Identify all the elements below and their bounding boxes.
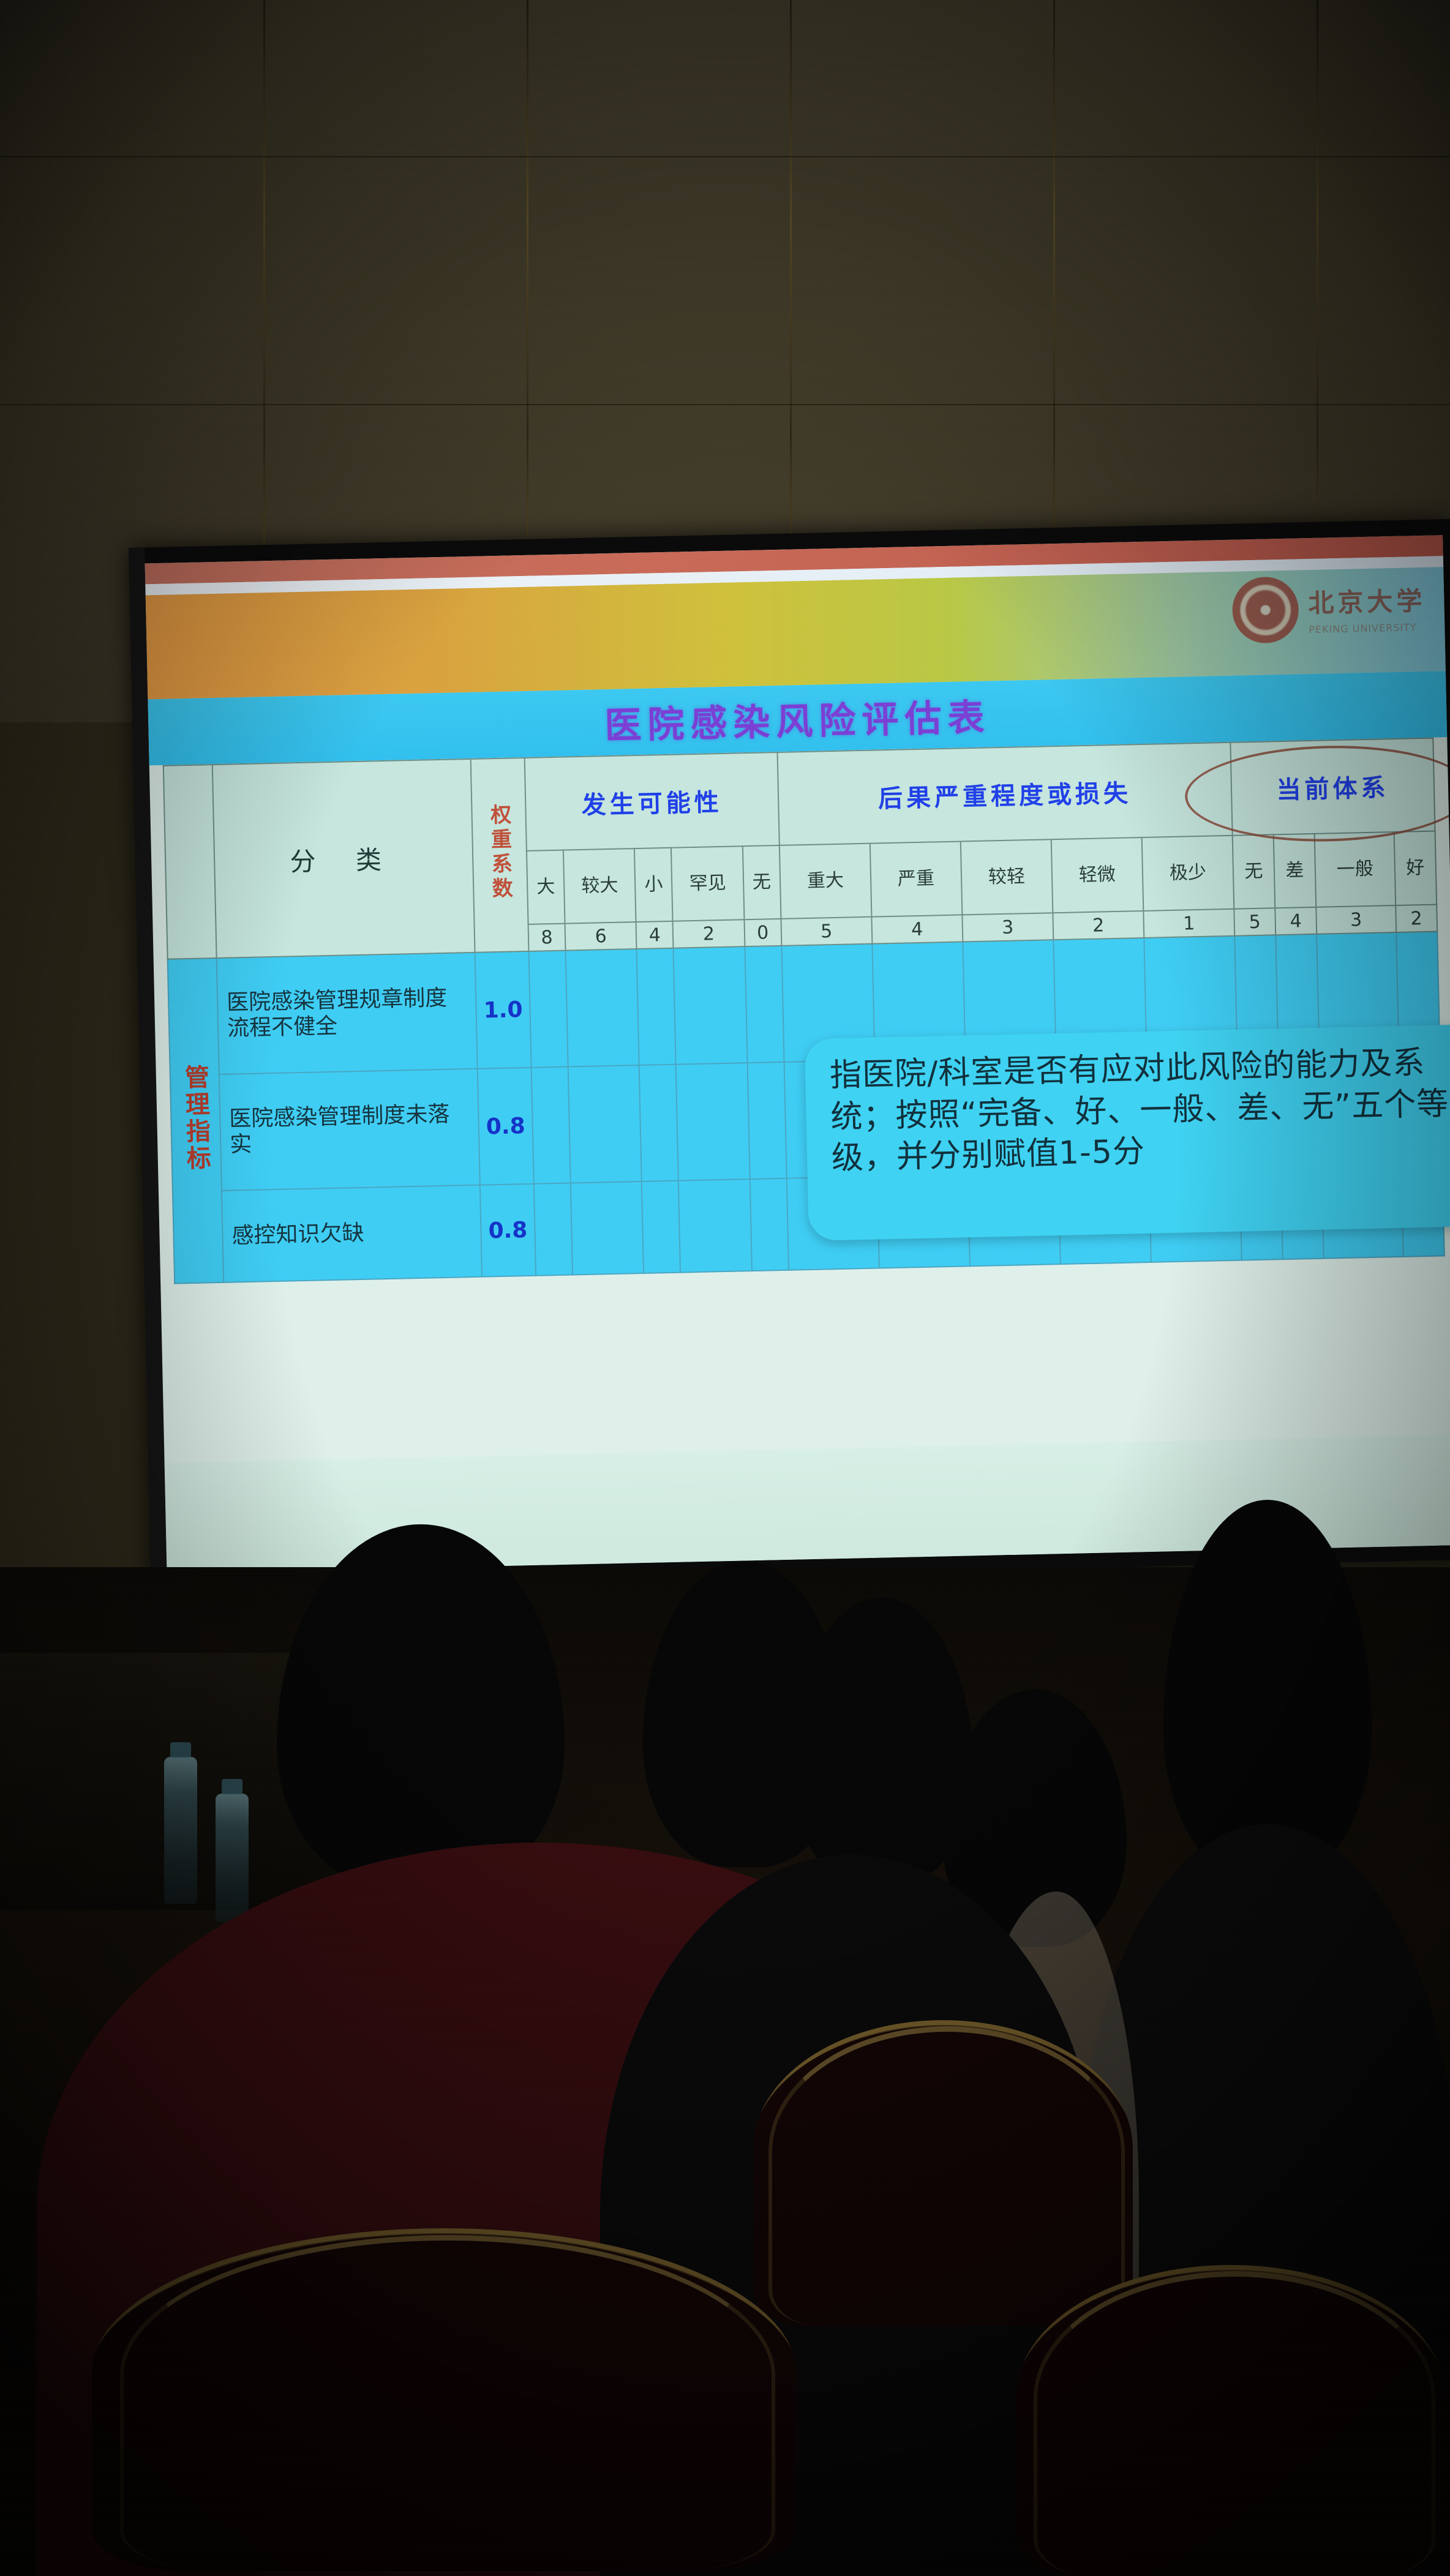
score-input-cell[interactable] [571,1181,644,1275]
subheader-cell: 无 [1233,834,1275,908]
score-cell: 3 [962,913,1053,942]
subheader-cell: 极少 [1142,836,1234,911]
slide-title: 医院感染风险评估表 [604,687,991,749]
subheader-cell: 好 [1394,831,1437,905]
university-logo: 北京大学 PEKING UNIVERSITY [1231,574,1426,644]
row-name: 感控知识欠缺 [222,1185,482,1282]
score-cell: 6 [565,922,637,951]
side-table [0,1653,380,1910]
logo-institution-cn: 北京大学 [1308,580,1426,620]
score-input-cell[interactable] [568,1065,642,1183]
group-header-severity: 后果严重程度或损失 [777,743,1232,845]
logo-institution-en: PEKING UNIVERSITY [1309,621,1426,635]
subheader-cell: 较大 [563,848,636,924]
callout-text: 指医院/科室是否有应对此风险的能力及系统；按照“完备、好、一般、差、无”五个等级… [829,1041,1450,1180]
row-weight: 1.0 [475,951,532,1069]
water-bottle [216,1794,249,1922]
score-input-cell[interactable] [749,1178,788,1271]
score-input-cell[interactable] [566,949,639,1066]
score-cell: 2 [1053,911,1144,940]
water-bottle [164,1757,197,1904]
score-input-cell[interactable] [745,946,784,1063]
audience-head [943,1690,1127,1947]
score-input-cell[interactable] [747,1062,786,1179]
score-cell: 0 [744,919,781,946]
subheader-cell: 轻微 [1051,837,1144,913]
row-name: 医院感染管理规章制度流程不健全 [217,953,478,1074]
audience-shoulders [1078,1824,1450,2576]
score-cell: 8 [528,924,566,951]
score-cell: 1 [1143,909,1234,938]
classification-header: 分 类 [212,759,475,958]
audience-shoulders [600,1855,1102,2576]
banquet-chair [1016,2265,1445,2576]
subheader-cell: 一般 [1315,832,1396,907]
audience-head [790,1598,974,1885]
audience-shoulders [955,1892,1139,2576]
score-input-cell[interactable] [637,948,676,1065]
score-cell: 4 [1275,907,1317,935]
category-axis-cell [163,765,217,959]
row-weight: 0.8 [480,1184,536,1277]
projection-screen: 北京大学 PEKING UNIVERSITY 医院感染风险评估表 分 类 权重系… [129,519,1450,1589]
subheader-cell: 差 [1274,834,1317,908]
score-input-cell[interactable] [676,1063,749,1180]
score-input-cell[interactable] [642,1181,680,1273]
subheader-cell: 重大 [779,844,872,919]
score-cell: 3 [1316,905,1396,934]
score-input-cell[interactable] [534,1183,573,1276]
slide-bottom-area [165,1435,1450,1573]
weight-header: 权重系数 [471,758,529,953]
audience-head [643,1561,845,1867]
subheader-cell: 严重 [870,841,963,916]
subheader-cell: 大 [527,850,565,924]
group-header-likelihood: 发生可能性 [525,752,779,851]
group-header-current-system: 当前体系 [1230,738,1435,836]
score-input-cell[interactable] [674,946,747,1064]
seal-icon [1231,576,1299,643]
bottle-cap-icon [222,1779,242,1795]
score-input-cell[interactable] [639,1065,678,1181]
subheader-cell: 无 [743,845,781,919]
score-cell: 5 [781,917,872,946]
score-cell: 2 [673,919,745,948]
row-category-label: 管理指标 [168,958,224,1284]
subheader-cell: 小 [634,848,673,922]
banquet-chair [753,2020,1133,2326]
banquet-chair [92,2228,796,2571]
dark-room-floor [0,1567,1450,2576]
bottle-cap-icon [170,1742,191,1758]
photo-of-conference-room: 北京大学 PEKING UNIVERSITY 医院感染风险评估表 分 类 权重系… [0,0,1450,2576]
score-cell: 4 [636,921,674,949]
presentation-slide: 北京大学 PEKING UNIVERSITY 医院感染风险评估表 分 类 权重系… [145,535,1450,1573]
score-cell: 5 [1234,908,1275,935]
audience-shoulders [37,1843,1041,2576]
score-cell: 2 [1396,905,1437,932]
row-weight: 0.8 [478,1068,534,1185]
score-input-cell[interactable] [678,1179,752,1273]
row-name: 医院感染管理制度未落实 [219,1069,480,1191]
subheader-cell: 较轻 [961,839,1053,915]
score-cell: 4 [871,915,963,943]
score-input-cell[interactable] [529,951,568,1068]
explanation-callout: 指医院/科室是否有应对此风险的能力及系统；按照“完备、好、一般、差、无”五个等级… [805,1024,1450,1241]
score-input-cell[interactable] [532,1067,571,1184]
subheader-cell: 罕见 [671,846,744,921]
